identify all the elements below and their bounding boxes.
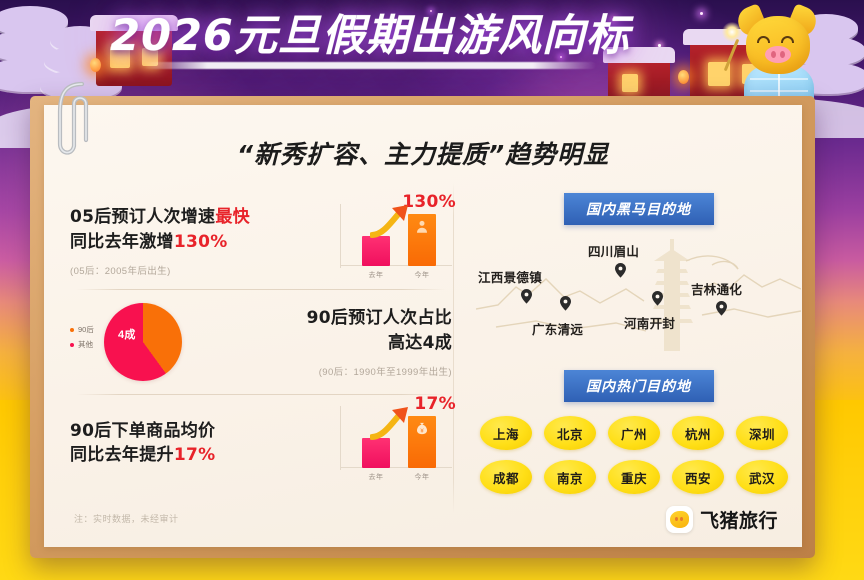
city-pill[interactable]: 武汉 (736, 460, 788, 494)
pie-chart-90hou: 90后 其他 4成 (70, 296, 220, 388)
stat-line-1: 90后预订人次占比 (220, 306, 452, 330)
stat-line-2-highlight: 17% (174, 445, 216, 465)
stat-line-2-highlight: 130% (174, 232, 228, 252)
city-pill[interactable]: 深圳 (736, 416, 788, 450)
stat-line-1: 05后预订人次增速最快 (70, 205, 340, 229)
stat-text: 90后下单商品均价 同比去年提升17% (70, 419, 340, 467)
location-pin-icon (652, 291, 663, 306)
map-label-meishan: 四川眉山 (588, 241, 639, 260)
stat-block-05hou-growth: 05后预订人次增速最快 同比去年激增130% (05后：2005年后出生) 13… (70, 193, 452, 289)
stat-line-1-highlight: 最快 (215, 207, 250, 227)
map-pin-kaifeng[interactable] (652, 291, 663, 306)
stat-line-2-text: 同比去年激增 (70, 232, 174, 252)
hot-city-list: 上海 北京 广州 杭州 深圳 成都 南京 重庆 西安 武汉 (476, 416, 801, 494)
footnote: 注：实时数据，未经审计 (74, 512, 179, 525)
page-title: 2026元旦假期出游风向标 (0, 14, 740, 59)
city-pill[interactable]: 杭州 (672, 416, 724, 450)
money-bag-icon: ¥ (415, 421, 430, 436)
pig-eye-right (781, 36, 794, 43)
legend-label-90hou: 90后 (78, 325, 94, 334)
bar-label-last-year: 去年 (356, 270, 396, 280)
stat-line-2: 高达4成 (220, 331, 452, 355)
card-subtitle: “新秀扩容、主力提质”趋势明显 (237, 135, 609, 171)
pie-legend: 90后 其他 (70, 322, 94, 352)
growth-arrow-icon (370, 204, 416, 238)
stat-note: (05后：2005年后出生) (70, 263, 340, 277)
fliggy-pig-logo-icon (666, 506, 693, 533)
hot-destinations-section: 国内热门目的地 上海 北京 广州 杭州 深圳 成都 南京 重庆 西安 武汉 (476, 370, 801, 494)
brand-name: 飞猪旅行 (700, 506, 778, 533)
legend-dot-other (70, 343, 74, 347)
subtitle-area: “新秀扩容、主力提质”趋势明显 (44, 135, 802, 171)
stat-text: 05后预订人次增速最快 同比去年激增130% (05后：2005年后出生) (70, 205, 340, 276)
bar-label-last-year: 去年 (356, 472, 396, 482)
stat-line-2-text: 同比去年提升 (70, 445, 174, 465)
pig-snout (765, 46, 791, 63)
nostril (771, 51, 776, 58)
location-pin-icon (615, 263, 626, 278)
lantern-icon (678, 70, 689, 84)
stat-line-2: 同比去年激增130% (70, 230, 340, 254)
map-pin-tonghua[interactable] (716, 301, 727, 316)
pig-head (746, 16, 810, 74)
location-pin-icon (521, 289, 532, 304)
growth-arrow-icon (370, 406, 416, 440)
nostril (680, 517, 683, 521)
bar-chart-05hou: 130% 去年 今年 (340, 202, 452, 280)
column-divider (453, 183, 454, 513)
person-icon (415, 219, 430, 234)
chart-y-axis (340, 406, 341, 470)
pie-legend-item-other: 其他 (70, 337, 94, 352)
stat-text: 90后预订人次占比 高达4成 (90后：1990年至1999年出生) (220, 306, 452, 377)
bar-label-this-year: 今年 (402, 270, 442, 280)
stat-line-1: 90后下单商品均价 (70, 419, 340, 443)
stat-line-2: 同比去年提升17% (70, 443, 340, 467)
map-label-kaifeng: 河南开封 (624, 313, 675, 332)
pie-graphic (104, 303, 182, 381)
map-pin-jingdezhen[interactable] (521, 289, 532, 304)
city-pill[interactable]: 西安 (672, 460, 724, 494)
stat-line-1-text: 05后预订人次增速 (70, 207, 215, 227)
pig-eye-left (757, 36, 770, 43)
stat-line-2-highlight: 4成 (423, 333, 452, 353)
stat-block-90hou-share: 90后 其他 4成 90后预订人次占比 高达4成 (70, 290, 452, 394)
stat-line-2-text: 高达 (388, 333, 423, 353)
svg-text:¥: ¥ (420, 428, 424, 434)
stat-line-1-text: 90后下单商品均价 (70, 421, 215, 441)
bar-last-year (362, 236, 390, 266)
city-pill[interactable]: 广州 (608, 416, 660, 450)
nostril (675, 517, 678, 521)
location-pin-icon (560, 296, 571, 311)
section-badge-dark-horse: 国内黑马目的地 (564, 193, 714, 225)
bar-chart-value-label: 17% (414, 394, 456, 414)
city-pill[interactable]: 成都 (480, 460, 532, 494)
city-pill[interactable]: 重庆 (608, 460, 660, 494)
location-pin-icon (716, 301, 727, 316)
city-pill[interactable]: 北京 (544, 416, 596, 450)
nostril (780, 51, 785, 58)
pie-slice-label: 4成 (118, 326, 136, 342)
bar-last-year (362, 438, 390, 468)
map-label-jingdezhen: 江西景德镇 (478, 267, 542, 286)
stats-column: 05后预订人次增速最快 同比去年激增130% (05后：2005年后出生) 13… (70, 193, 452, 491)
stat-note: (90后：1990年至1999年出生) (220, 364, 452, 378)
stat-line-1-text: 90后预订人次占比 (307, 308, 452, 328)
clipboard-board: “新秀扩容、主力提质”趋势明显 05后预订人次增速最快 同比去年激增130% (… (30, 96, 815, 558)
map-label-tonghua: 吉林通化 (691, 279, 742, 298)
brand-logo: 飞猪旅行 (666, 506, 778, 533)
title-brush-underline (144, 62, 596, 69)
legend-dot-90hou (70, 328, 74, 332)
pig-glyph (670, 511, 689, 528)
section-badge-hot: 国内热门目的地 (564, 370, 714, 402)
map-label-qingyuan: 广东清远 (532, 319, 583, 338)
jacket-rib (750, 78, 808, 80)
house-window (622, 74, 638, 92)
jacket-rib (750, 90, 808, 92)
paper-card: “新秀扩容、主力提质”趋势明显 05后预订人次增速最快 同比去年激增130% (… (44, 105, 802, 547)
china-map: 江西景德镇 四川眉山 吉林通化 广东清远 河南开封 (476, 231, 801, 356)
title-area: 2026元旦假期出游风向标 (0, 14, 740, 69)
city-pill[interactable]: 南京 (544, 460, 596, 494)
pie-legend-item-90hou: 90后 (70, 322, 94, 337)
stat-block-90hou-price: 90后下单商品均价 同比去年提升17% 17% ¥ (70, 395, 452, 491)
map-pin-meishan[interactable] (615, 263, 626, 278)
legend-label-other: 其他 (78, 340, 93, 349)
bar-label-this-year: 今年 (402, 472, 442, 482)
city-pill[interactable]: 上海 (480, 416, 532, 450)
chart-y-axis (340, 204, 341, 268)
bar-chart-90hou-price: 17% ¥ 去年 (340, 404, 452, 482)
sparkler-stick (724, 39, 740, 72)
map-pin-qingyuan[interactable] (560, 296, 571, 311)
destinations-column: 国内黑马目的地 (476, 193, 801, 494)
